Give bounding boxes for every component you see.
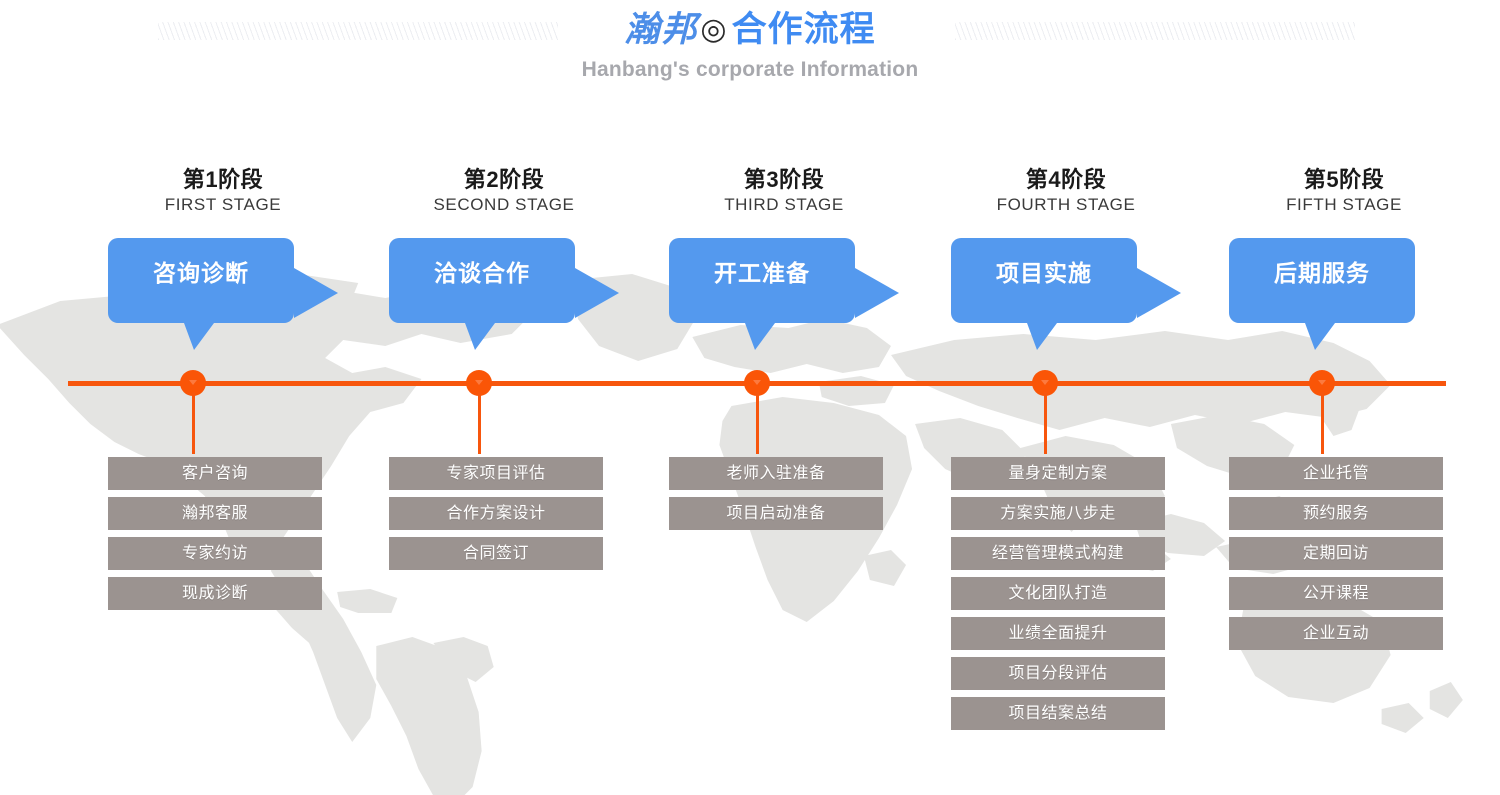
list-item[interactable]: 老师入驻准备 (669, 457, 883, 490)
list-item[interactable]: 文化团队打造 (951, 577, 1165, 610)
list-item[interactable]: 专家约访 (108, 537, 322, 570)
stage-title-cn-5: 第5阶段 (1229, 162, 1459, 194)
page-subtitle: Hanbang's corporate Information (0, 58, 1500, 82)
stage-title-en-5: FIFTH STAGE (1229, 195, 1459, 215)
list-item[interactable]: 瀚邦客服 (108, 497, 322, 530)
list-item[interactable]: 企业托管 (1229, 457, 1443, 490)
title-main-text: 合作流程 (732, 10, 876, 49)
list-item[interactable]: 项目结案总结 (951, 697, 1165, 730)
stage-title-cn-4: 第4阶段 (951, 162, 1181, 194)
stage-bubble-4[interactable]: 项目实施 (951, 238, 1183, 350)
brand-name: 瀚邦 (624, 9, 698, 50)
list-item[interactable]: 公开课程 (1229, 577, 1443, 610)
list-item[interactable]: 合同签订 (389, 537, 603, 570)
stage-title-cn-1: 第1阶段 (108, 162, 338, 194)
stage-bubble-label-2: 洽谈合作 (389, 260, 575, 286)
infographic-canvas: 瀚邦◎合作流程 Hanbang's corporate Information … (0, 0, 1500, 795)
list-item[interactable]: 业绩全面提升 (951, 617, 1165, 650)
stage-bubble-2[interactable]: 洽谈合作 (389, 238, 621, 350)
stage-bubble-label-1: 咨询诊断 (108, 260, 294, 286)
stage-title-en-4: FOURTH STAGE (951, 195, 1181, 215)
stage-columns: 第1阶段 FIRST STAGE 咨询诊断 客户咨询 瀚邦客服 专家约访 现成诊… (0, 0, 1500, 795)
list-item[interactable]: 现成诊断 (108, 577, 322, 610)
stage-title-en-3: THIRD STAGE (669, 195, 899, 215)
list-item[interactable]: 预约服务 (1229, 497, 1443, 530)
stage-bubble-label-5: 后期服务 (1229, 260, 1415, 286)
list-item[interactable]: 量身定制方案 (951, 457, 1165, 490)
stage-bubble-1[interactable]: 咨询诊断 (108, 238, 340, 350)
page-header: 瀚邦◎合作流程 Hanbang's corporate Information (0, 0, 1500, 115)
stage-item-list-5: 企业托管 预约服务 定期回访 公开课程 企业互动 (1229, 457, 1443, 657)
stage-title-cn-3: 第3阶段 (669, 162, 899, 194)
list-item[interactable]: 经营管理模式构建 (951, 537, 1165, 570)
stage-bubble-5[interactable]: 后期服务 (1229, 238, 1461, 350)
list-item[interactable]: 企业互动 (1229, 617, 1443, 650)
list-item[interactable]: 合作方案设计 (389, 497, 603, 530)
brand-mark-icon: ◎ (698, 13, 731, 46)
stage-title-cn-2: 第2阶段 (389, 162, 619, 194)
stage-bubble-label-3: 开工准备 (669, 260, 855, 286)
list-item[interactable]: 客户咨询 (108, 457, 322, 490)
stage-title-en-1: FIRST STAGE (108, 195, 338, 215)
stage-item-list-3: 老师入驻准备 项目启动准备 (669, 457, 883, 537)
stage-title-en-2: SECOND STAGE (389, 195, 619, 215)
list-item[interactable]: 方案实施八步走 (951, 497, 1165, 530)
stage-item-list-2: 专家项目评估 合作方案设计 合同签订 (389, 457, 603, 577)
page-title: 瀚邦◎合作流程 (0, 8, 1500, 52)
list-item[interactable]: 定期回访 (1229, 537, 1443, 570)
stage-bubble-3[interactable]: 开工准备 (669, 238, 901, 350)
list-item[interactable]: 项目启动准备 (669, 497, 883, 530)
stage-bubble-label-4: 项目实施 (951, 260, 1137, 286)
stage-item-list-4: 量身定制方案 方案实施八步走 经营管理模式构建 文化团队打造 业绩全面提升 项目… (951, 457, 1165, 737)
stage-item-list-1: 客户咨询 瀚邦客服 专家约访 现成诊断 (108, 457, 322, 617)
list-item[interactable]: 专家项目评估 (389, 457, 603, 490)
list-item[interactable]: 项目分段评估 (951, 657, 1165, 690)
